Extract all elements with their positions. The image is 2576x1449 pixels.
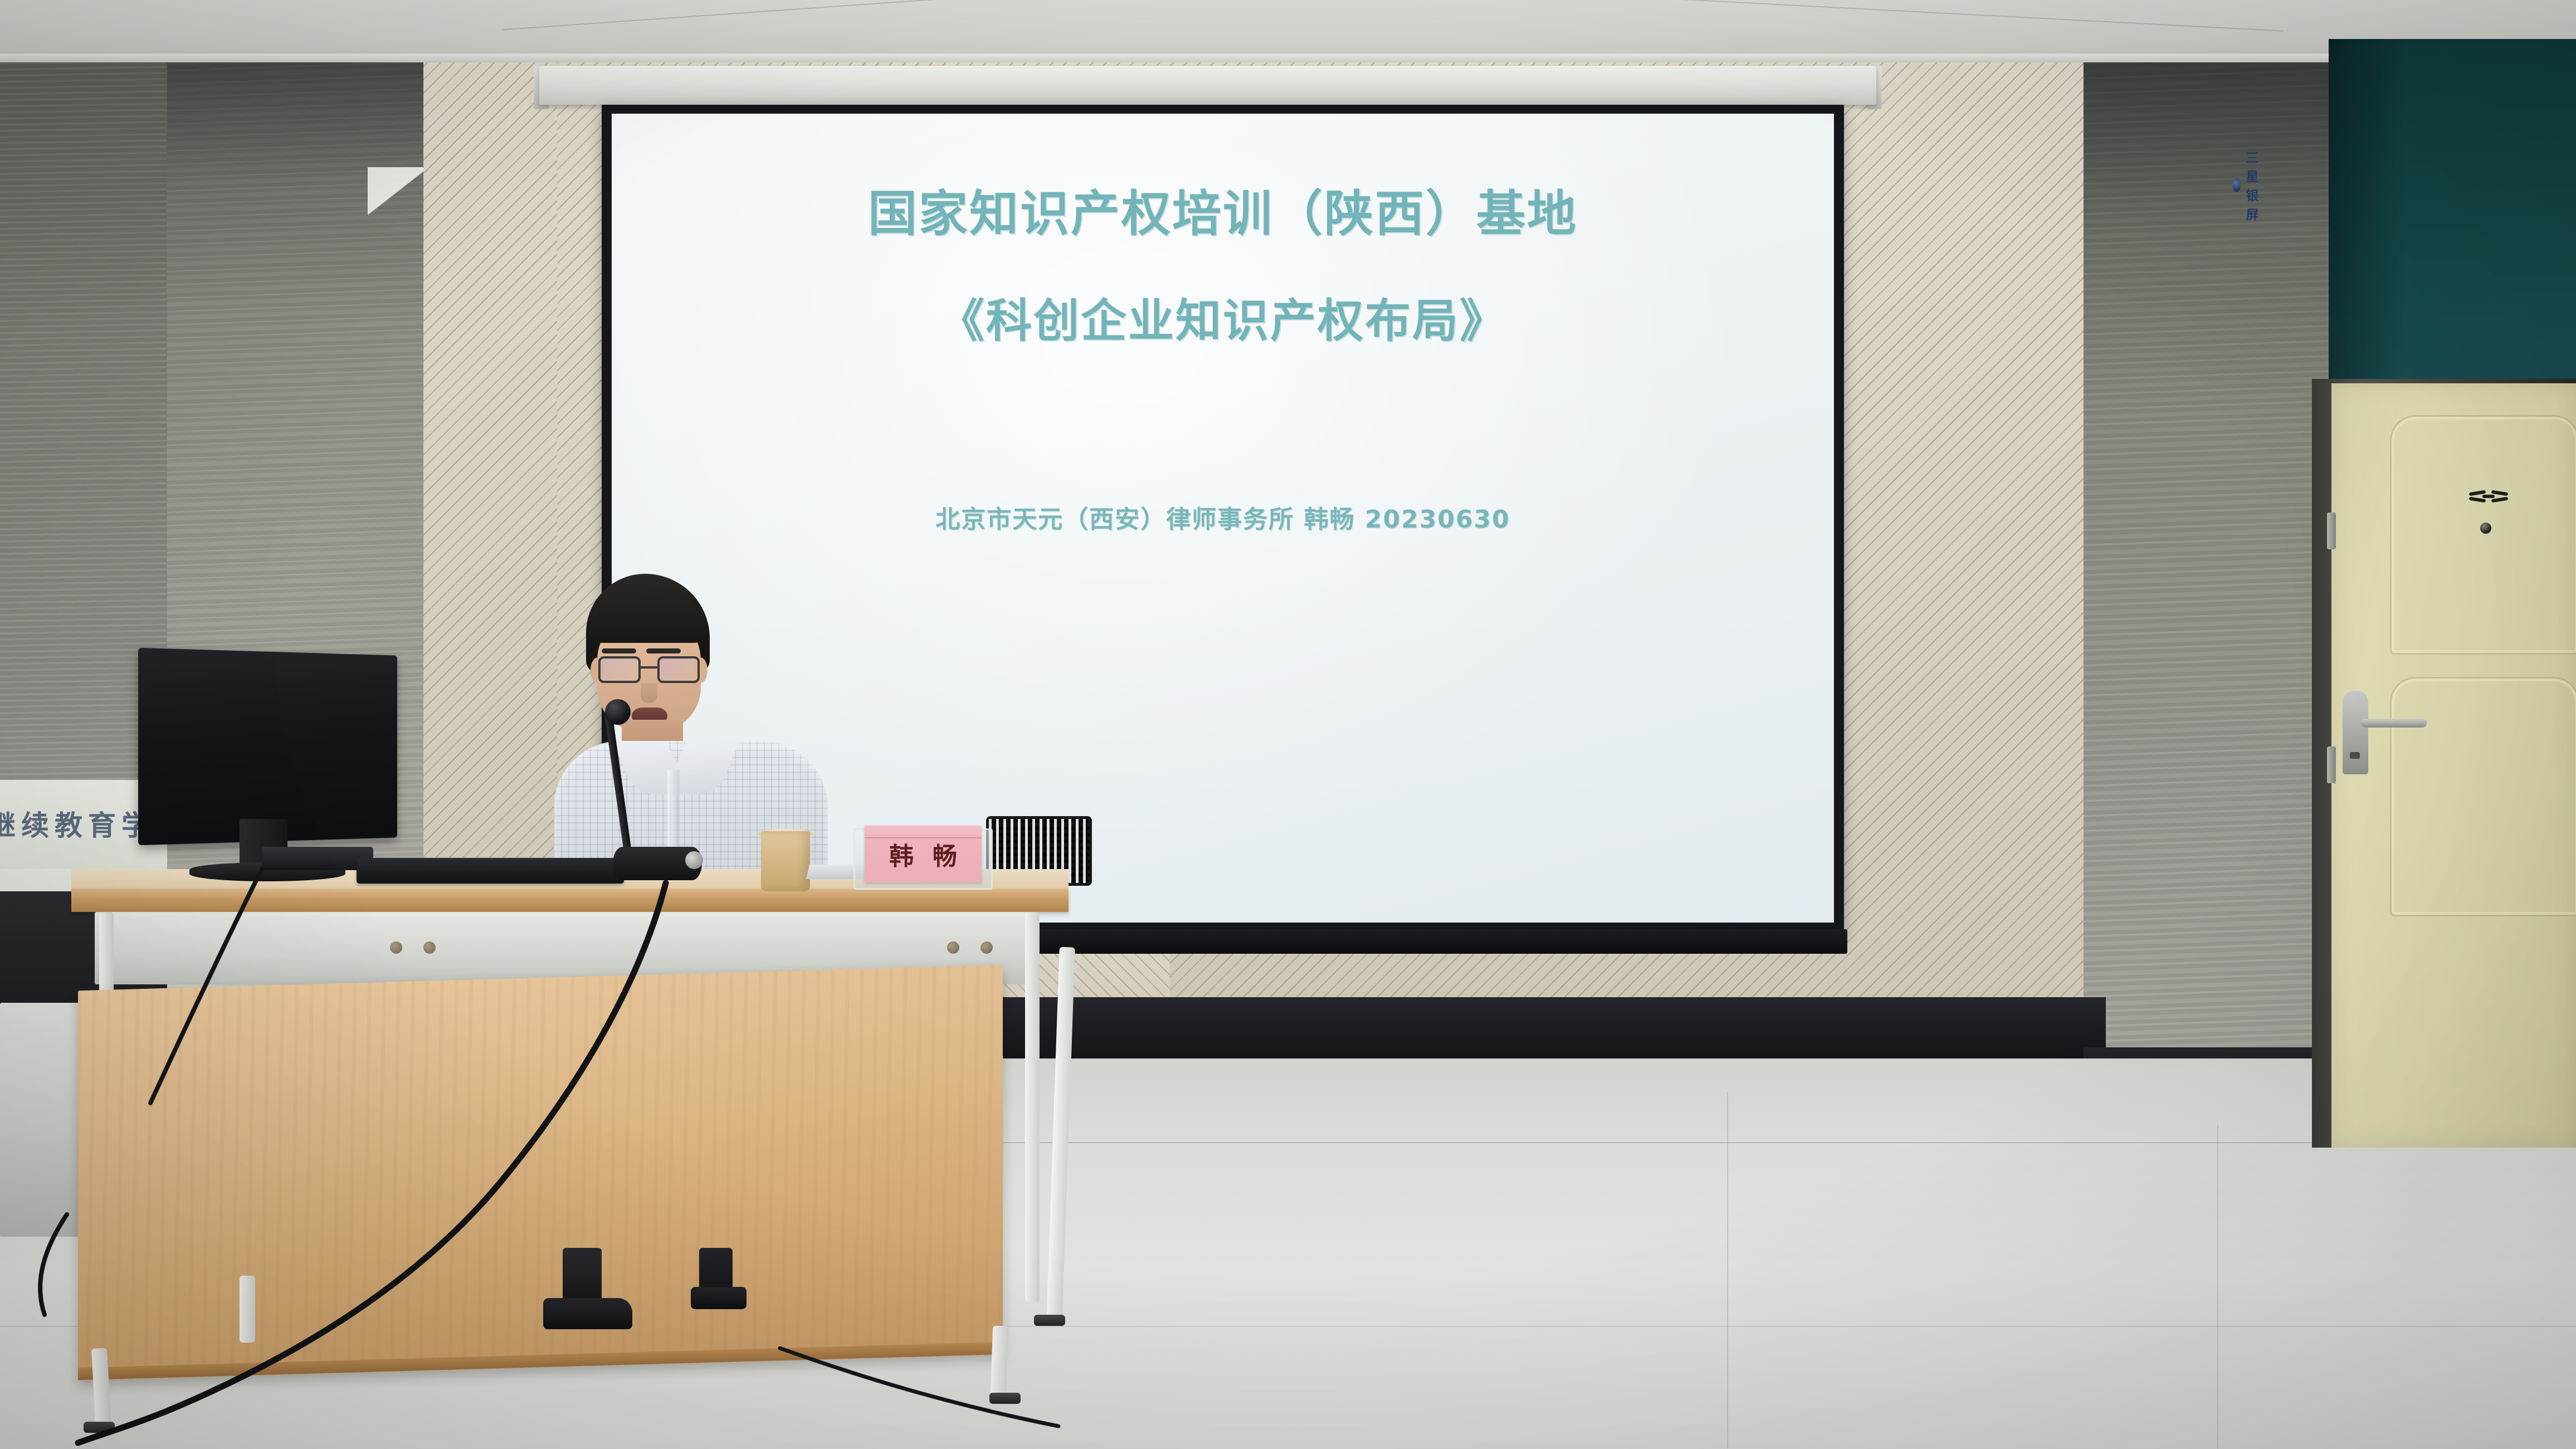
brand-logo-icon xyxy=(2233,178,2241,192)
wall-light-reflection xyxy=(368,167,429,215)
door-panel-bottom xyxy=(2390,677,2576,916)
door-grille-icon xyxy=(2468,490,2509,509)
slide-footer: 北京市天元（西安）律师事务所 韩畅 20230630 xyxy=(935,499,1510,535)
room-scene: 继续教育学院 三星银屏 国家知识产权培训（陕西）基地 《科创企业知识产权布局》 … xyxy=(0,0,2576,1449)
computer-monitor[interactable] xyxy=(138,648,397,845)
table-leg-right xyxy=(991,1326,1009,1399)
keyboard[interactable] xyxy=(357,858,624,884)
door-hinge xyxy=(2327,513,2336,549)
nameplate-given-name: 畅 xyxy=(933,836,957,872)
glasses-lens-right xyxy=(657,656,700,683)
projector-brand-label: 三星银屏 xyxy=(2246,147,2272,223)
speaker-fringe xyxy=(588,596,708,643)
nameplate-surname: 韩 xyxy=(889,836,914,872)
speaker-eyebrow-left xyxy=(602,648,636,653)
door-hinge xyxy=(2327,747,2336,783)
speaker-nose xyxy=(641,683,657,703)
wall-panel-striped-left xyxy=(423,62,557,965)
desk-grommet xyxy=(980,941,993,954)
wall-panel-marble-right xyxy=(2084,62,2340,1110)
desk-grommet xyxy=(423,941,436,954)
table-foot-rear-right xyxy=(1034,1315,1065,1326)
desk-grommet xyxy=(390,941,402,954)
floor-seam-vertical xyxy=(1727,1092,1728,1448)
table-foot-right xyxy=(989,1393,1021,1404)
microphone-connector xyxy=(685,851,703,869)
projector-screen-housing[interactable]: 三星银屏 xyxy=(539,66,1876,105)
projector-brand: 三星银屏 xyxy=(2233,147,2272,223)
door-keyhole-icon xyxy=(2350,752,2360,759)
folding-table-top xyxy=(78,965,1003,1380)
speaker-shoe xyxy=(543,1298,632,1329)
glasses-icon xyxy=(598,656,701,683)
desk-grommet xyxy=(947,941,959,954)
door-handle-plate[interactable] xyxy=(2343,691,2368,774)
desk-leg-right xyxy=(1025,912,1040,1302)
microphone-head-icon xyxy=(605,699,631,725)
table-foot-left xyxy=(84,1422,115,1433)
door-lever-handle[interactable] xyxy=(2361,719,2427,728)
slide-subtitle: 《科创企业知识产权布局》 xyxy=(939,284,1507,350)
paper-cup[interactable] xyxy=(761,831,810,891)
door-panel-top xyxy=(2390,415,2576,655)
speaker-shoe xyxy=(691,1287,747,1309)
floor-seam-vertical xyxy=(2217,1125,2218,1448)
nameplate-fold-line xyxy=(865,837,982,838)
glasses-bridge xyxy=(641,666,658,669)
desk-top xyxy=(71,889,1069,912)
door-peephole-icon xyxy=(2480,523,2491,534)
table-leg-mid xyxy=(240,1276,255,1343)
nameplate-card: 韩 畅 xyxy=(865,826,982,882)
slide-title: 国家知识产权培训（陕西）基地 xyxy=(868,187,1578,241)
glasses-lens-left xyxy=(598,656,641,683)
speaker-eyebrow-right xyxy=(646,648,681,653)
